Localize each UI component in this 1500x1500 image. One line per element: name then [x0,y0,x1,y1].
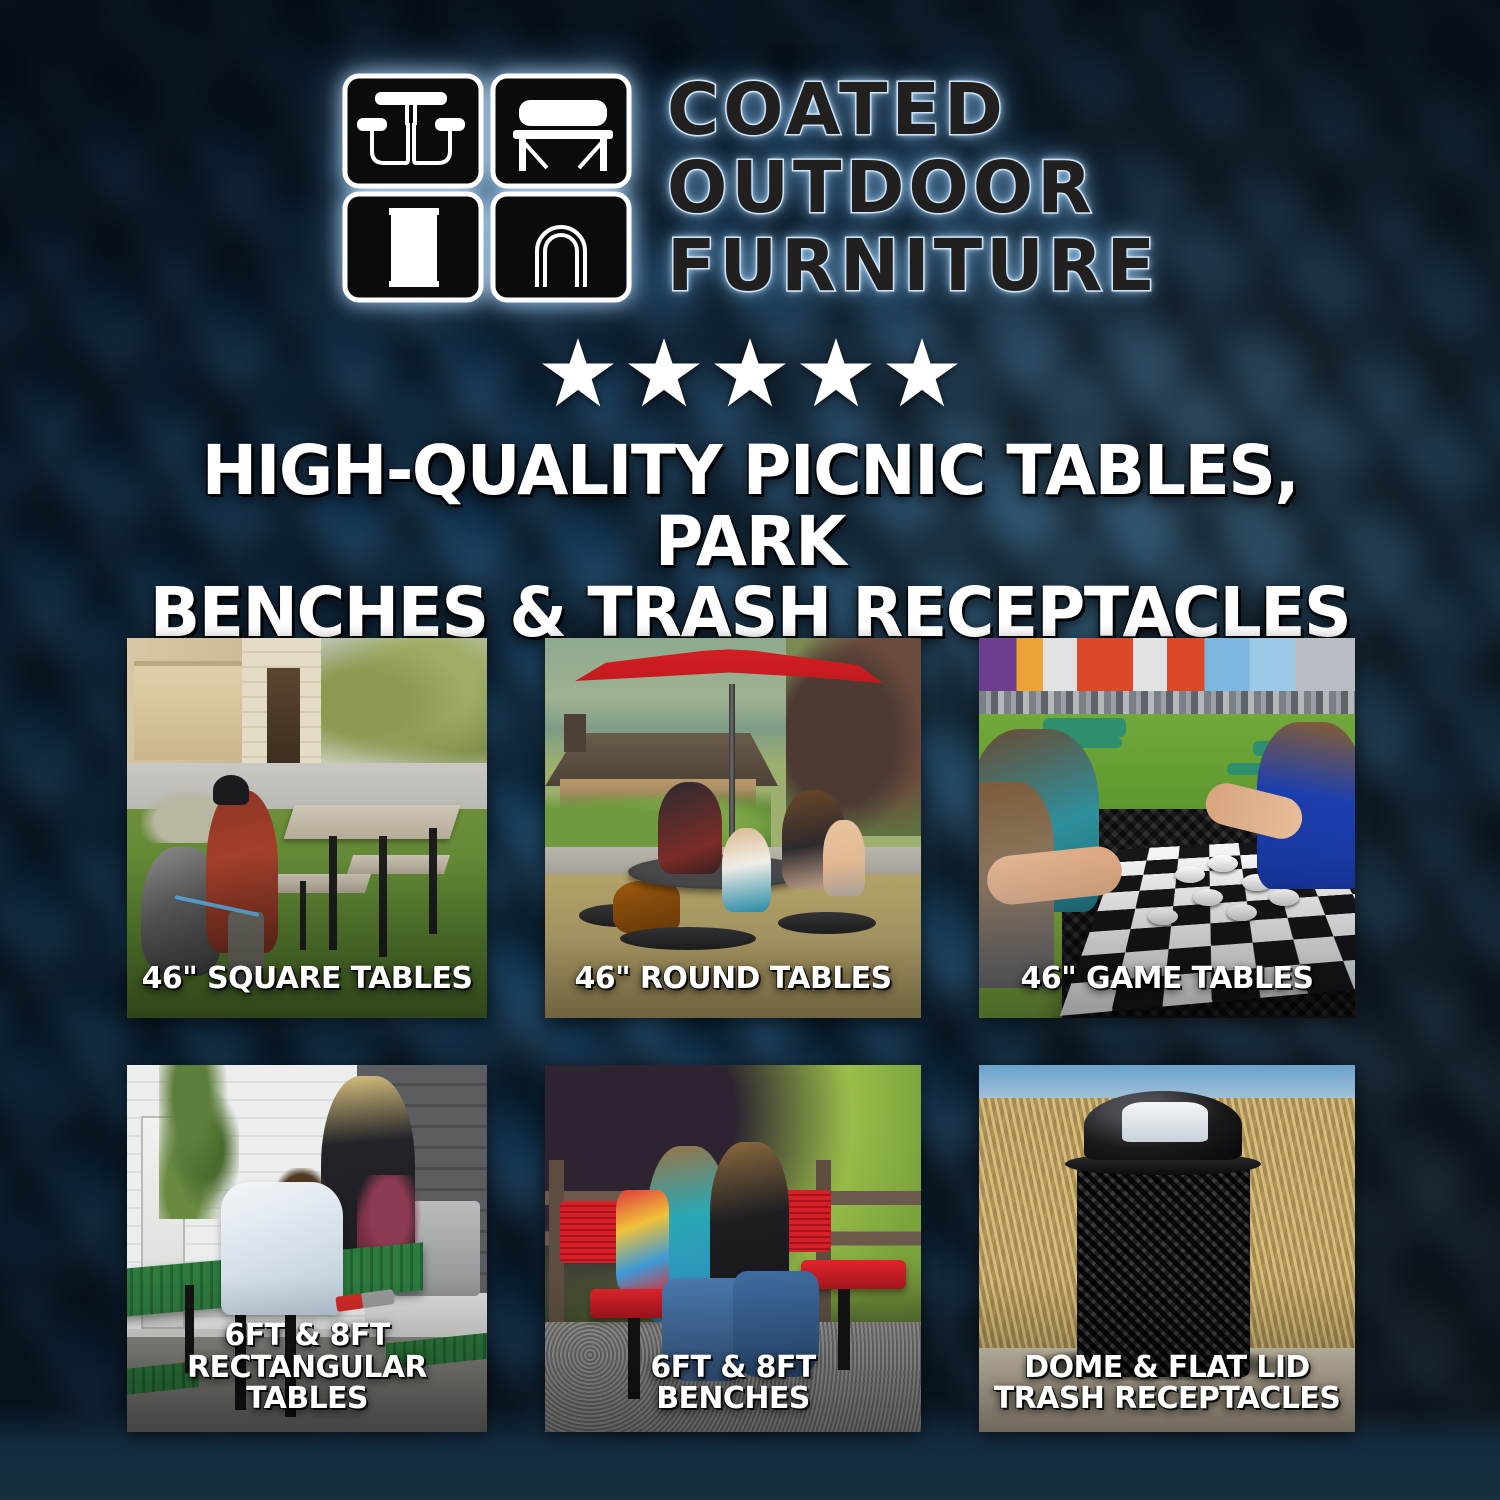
product-tile-benches[interactable]: 6FT & 8FT BENCHES [545,1065,921,1432]
caption-line: TRASH RECEPTACLES [979,1383,1355,1414]
product-category-grid: 46" SQUARE TABLES [127,638,1375,1432]
star-icon [714,338,786,410]
page-title: HIGH-QUALITY PICNIC TABLES, PARK BENCHES… [30,436,1470,649]
star-icon [800,338,872,410]
caption-line: 6FT & 8FT [545,1352,921,1383]
headline-line-1: HIGH-QUALITY PICNIC TABLES, PARK [136,436,1365,578]
tile-caption: 46" SQUARE TABLES [127,963,487,994]
caption-line: 46" SQUARE TABLES [127,963,487,994]
star-icon [628,338,700,410]
four-quadrant-furniture-icon [341,72,633,304]
caption-line: RECTANGULAR TABLES [127,1352,487,1414]
tile-caption: DOME & FLAT LID TRASH RECEPTACLES [979,1352,1355,1414]
tile-caption: 6FT & 8FT BENCHES [545,1352,921,1414]
tile-caption: 46" ROUND TABLES [545,963,921,994]
caption-line: 46" ROUND TABLES [545,963,921,994]
brand-name-line-3: FURNITURE [667,232,1159,300]
tile-caption: 46" GAME TABLES [979,963,1355,994]
star-rating [0,338,1500,410]
brand-name-line-1: COATED [667,76,1159,144]
caption-line: 46" GAME TABLES [979,963,1355,994]
caption-line: DOME & FLAT LID [979,1352,1355,1383]
star-icon [542,338,614,410]
product-tile-trash-receptacles[interactable]: DOME & FLAT LID TRASH RECEPTACLES [979,1065,1355,1432]
tile-caption: 6FT & 8FT RECTANGULAR TABLES [127,1320,487,1414]
product-tile-round-tables[interactable]: 46" ROUND TABLES [545,638,921,1018]
poster-header: COATED OUTDOOR FURNITURE HIGH-QUALITY PI… [0,72,1500,649]
marketing-poster: COATED OUTDOOR FURNITURE HIGH-QUALITY PI… [0,0,1500,1500]
trash-receptacle-icon [389,208,439,287]
caption-line: 6FT & 8FT [127,1320,487,1351]
product-tile-game-tables[interactable]: 46" GAME TABLES [979,638,1355,1018]
product-tile-square-tables[interactable]: 46" SQUARE TABLES [127,638,487,1018]
brand-logo: COATED OUTDOOR FURNITURE [0,72,1500,304]
star-icon [886,338,958,410]
caption-line: BENCHES [545,1383,921,1414]
brand-name-line-2: OUTDOOR [667,154,1159,222]
brand-wordmark: COATED OUTDOOR FURNITURE [667,76,1159,300]
product-tile-rectangular-tables[interactable]: 6FT & 8FT RECTANGULAR TABLES [127,1065,487,1432]
